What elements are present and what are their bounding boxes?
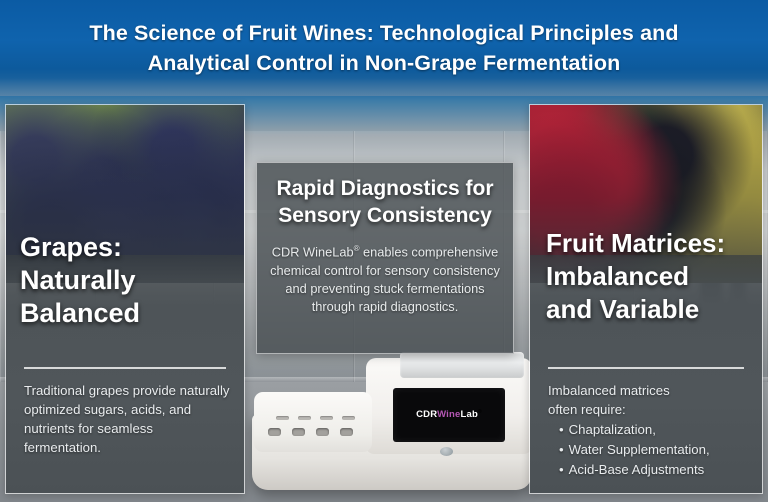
list-item: Chaptalization, [559,420,750,440]
left-panel-description: Traditional grapes provide naturally opt… [24,381,232,457]
center-card-description: CDR WineLab® enables comprehensive chemi… [269,240,501,317]
logo-part-wine: Wine [437,410,460,421]
left-title-line-2: Naturally [20,264,234,297]
list-item: Water Supplementation, [559,440,750,460]
requirements-list: Chaptalization, Water Supplementation, A… [548,420,750,480]
logo-part-lab: Lab [461,410,479,421]
center-desc-product: CDR WineLab [272,244,354,259]
logo-part-cdr: CDR [416,410,437,421]
center-card: Rapid Diagnostics for Sensory Consistenc… [256,162,514,354]
left-panel-divider [24,367,226,369]
device-sample-tray [254,392,372,452]
header-banner: The Science of Fruit Wines: Technologica… [0,0,768,96]
winelab-logo: CDRWineLab® [416,409,482,420]
left-panel-grapes: Grapes: Naturally Balanced Traditional g… [5,104,245,494]
page-title-line-1: The Science of Fruit Wines: Technologica… [24,18,744,48]
list-item: Acid-Base Adjustments [559,460,750,480]
right-panel-fruit: Fruit Matrices: Imbalanced and Variable … [529,104,763,494]
right-panel-divider [548,367,744,369]
left-panel-title: Grapes: Naturally Balanced [20,231,234,330]
right-desc-intro-2: often require: [548,400,750,419]
left-title-line-3: Balanced [20,297,234,330]
logo-registered-mark: ® [478,409,482,415]
right-desc-intro-1: Imbalanced matrices [548,381,750,400]
page-title-line-2: Analytical Control in Non-Grape Fermenta… [24,48,744,78]
right-panel-title: Fruit Matrices: Imbalanced and Variable [546,227,752,326]
infographic-stage: The Science of Fruit Wines: Technologica… [0,0,768,502]
right-title-line-2: Imbalanced [546,260,752,293]
device-screen[interactable]: CDRWineLab® [393,388,505,442]
right-title-line-3: and Variable [546,293,752,326]
right-panel-description: Imbalanced matrices often require: Chapt… [548,381,750,480]
center-card-title: Rapid Diagnostics for Sensory Consistenc… [269,175,501,229]
left-title-line-1: Grapes: [20,231,234,264]
device-lid [400,352,524,378]
page-title: The Science of Fruit Wines: Technologica… [24,18,744,78]
winelab-analyzer-device: CDRWineLab® [248,352,540,502]
center-title-line-2: Sensory Consistency [269,202,501,229]
right-title-line-1: Fruit Matrices: [546,227,752,260]
center-title-line-1: Rapid Diagnostics for [269,175,501,202]
device-power-button[interactable] [440,447,453,456]
